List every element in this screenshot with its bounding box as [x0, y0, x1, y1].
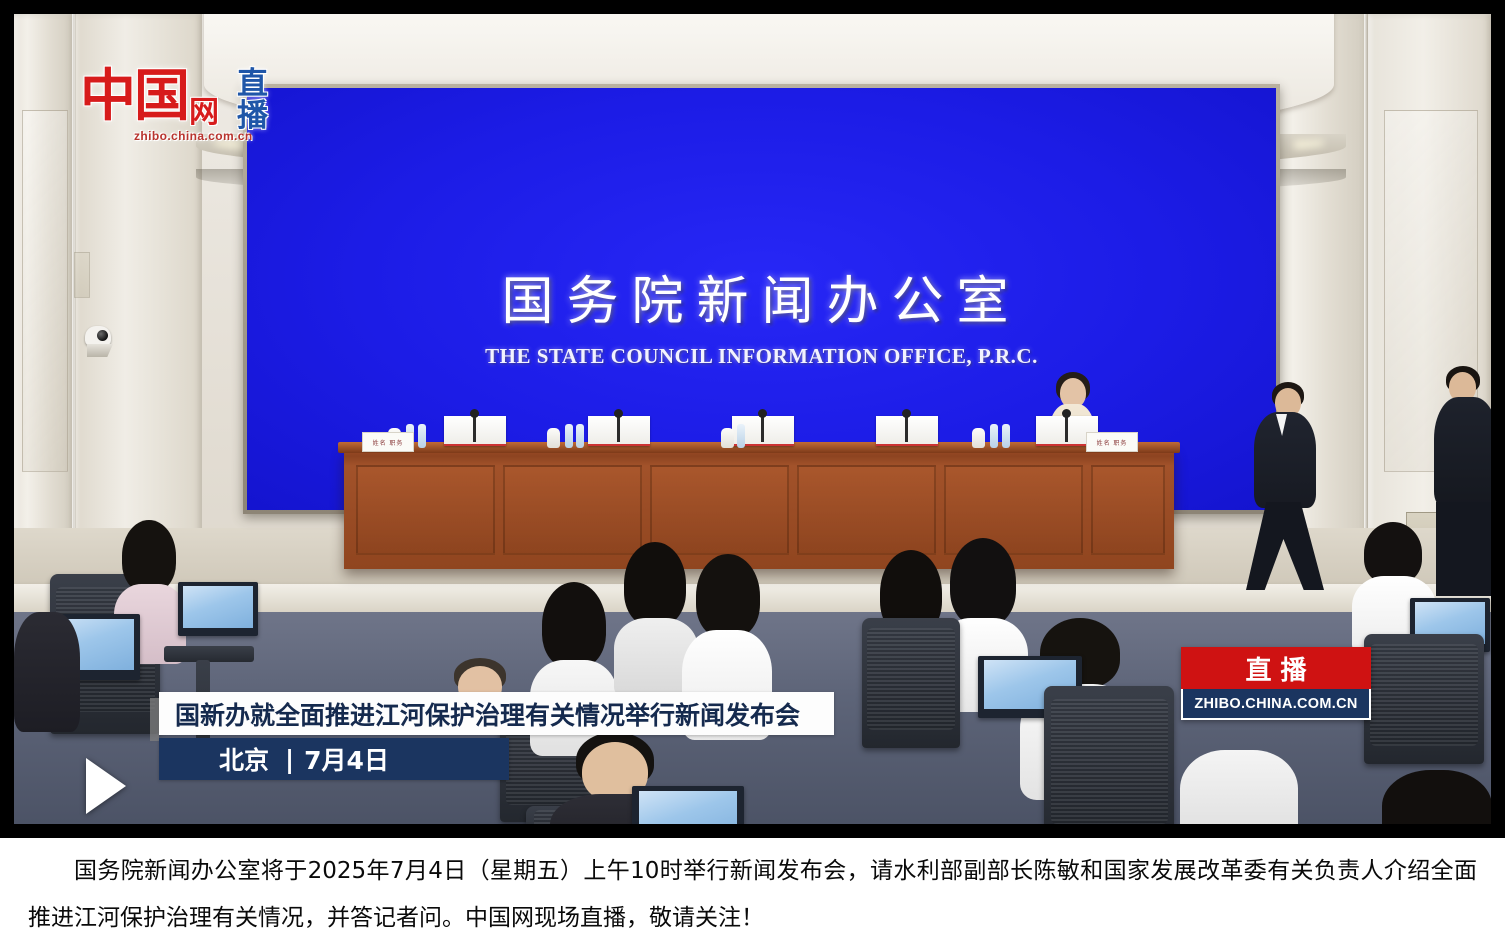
video-stage: 国务院新闻办公室 THE STATE COUNCIL INFORMATION O… — [14, 14, 1491, 824]
wall-panel-left — [22, 110, 68, 472]
lower-third-separator: | — [269, 745, 304, 774]
logo-live-label: 直 播 — [237, 69, 268, 132]
logo-brand-cn: 中国 — [80, 69, 188, 125]
security-camera-icon — [85, 326, 115, 360]
person-official-right-edge — [1434, 366, 1491, 596]
laptop — [632, 786, 744, 824]
live-badge[interactable]: 直播 ZHIBO.CHINA.COM.CN — [1181, 647, 1371, 720]
video-player[interactable]: 国务院新闻办公室 THE STATE COUNCIL INFORMATION O… — [0, 0, 1505, 838]
screen-title-en: THE STATE COUNCIL INFORMATION OFFICE, P.… — [485, 344, 1038, 369]
nameplate-label: 姓名 职务 — [362, 432, 414, 452]
live-badge-url: ZHIBO.CHINA.COM.CN — [1194, 696, 1357, 712]
lower-third-location: 北京 — [219, 741, 269, 777]
laptop — [178, 582, 258, 636]
lower-third-headline: 国新办就全面推进江河保护治理有关情况举行新闻发布会 — [175, 696, 800, 732]
journalist — [1180, 750, 1300, 824]
page-root: 国务院新闻办公室 THE STATE COUNCIL INFORMATION O… — [0, 0, 1505, 951]
journalist — [1382, 770, 1491, 824]
nameplate-label: 姓名 职务 — [1086, 432, 1138, 452]
channel-logo[interactable]: 中国 网 zhibo.china.com.cn 直 播 — [80, 69, 320, 169]
podium-table — [344, 449, 1174, 569]
play-icon[interactable] — [86, 758, 126, 814]
person-walking-official — [1246, 382, 1342, 587]
logo-url: zhibo.china.com.cn — [134, 129, 253, 143]
wall-vent-left — [74, 252, 90, 298]
chair — [862, 618, 960, 748]
journalist — [14, 612, 84, 792]
caption-text: 国务院新闻办公室将于2025年7月4日（星期五）上午10时举行新闻发布会，请水利… — [28, 848, 1477, 942]
lower-third: 国新办就全面推进江河保护治理有关情况举行新闻发布会 北京 | 7月4日 — [159, 692, 834, 780]
lower-third-sub-bar: 北京 | 7月4日 — [159, 738, 509, 780]
chair — [1364, 634, 1484, 764]
logo-live-char-2: 播 — [237, 101, 268, 133]
logo-brand-net: 网 — [189, 87, 219, 131]
live-badge-blue: ZHIBO.CHINA.COM.CN — [1181, 689, 1371, 720]
lower-third-date: 7月4日 — [304, 741, 389, 777]
chair — [1044, 686, 1174, 824]
desk-arm — [164, 646, 254, 662]
logo-live-char-1: 直 — [237, 69, 268, 101]
live-badge-label: 直播 — [1236, 650, 1315, 687]
screen-title-cn: 国务院新闻办公室 — [501, 259, 1021, 334]
caption-area: 国务院新闻办公室将于2025年7月4日（星期五）上午10时举行新闻发布会，请水利… — [0, 838, 1505, 951]
live-badge-red: 直播 — [1181, 647, 1371, 689]
lower-third-headline-bar: 国新办就全面推进江河保护治理有关情况举行新闻发布会 — [159, 692, 834, 735]
